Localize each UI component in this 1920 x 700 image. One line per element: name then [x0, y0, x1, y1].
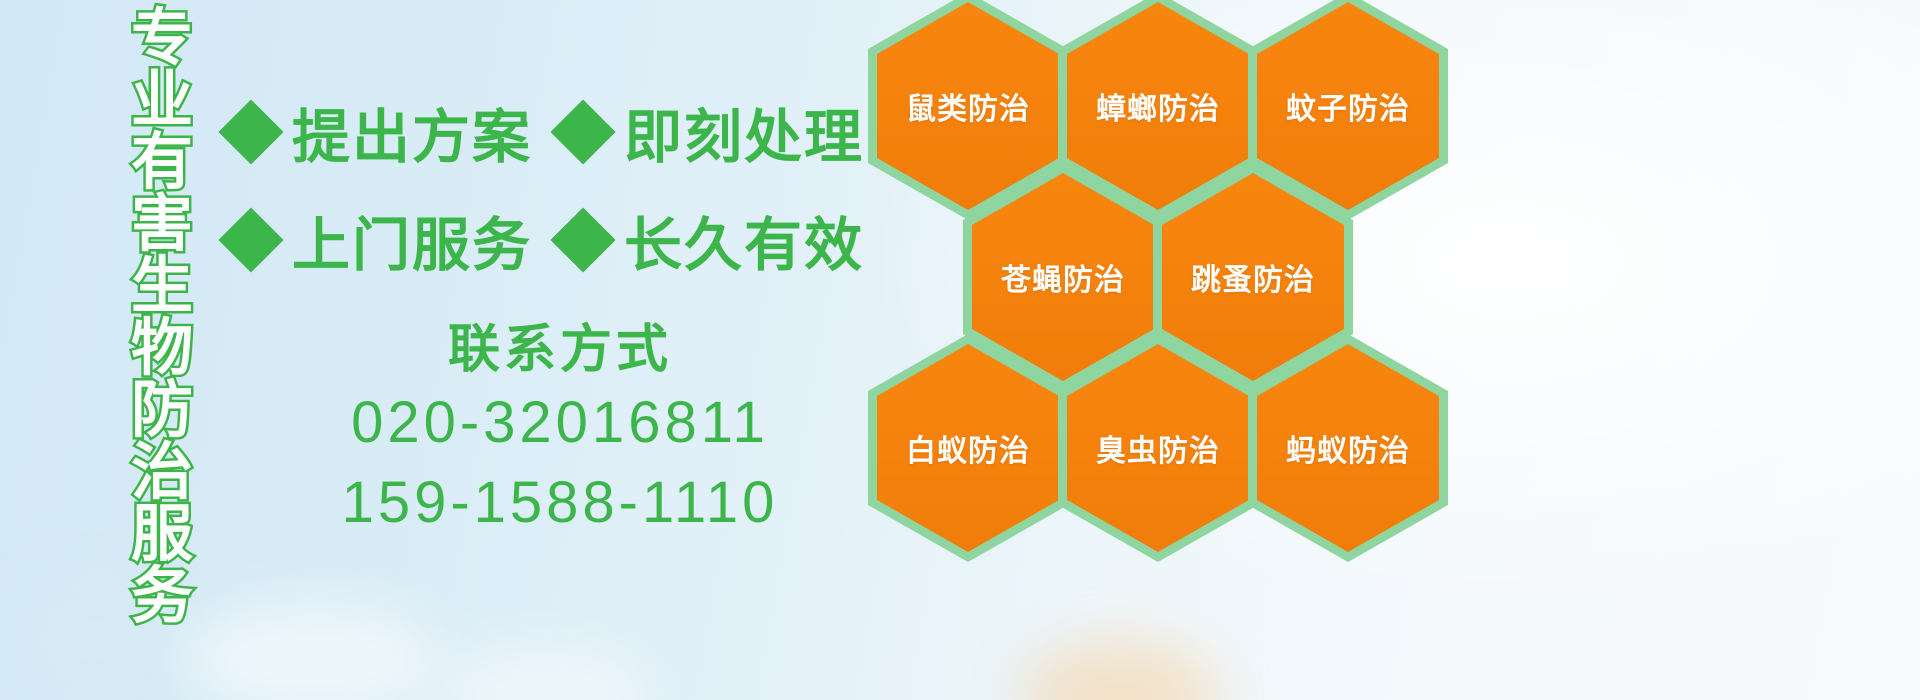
feature-label: 长久有效	[624, 198, 864, 282]
service-hex-label: 臭虫防治	[1096, 426, 1220, 470]
vertical-headline: 专 业 有 害 生 物 防 治 服 务	[108, 8, 216, 568]
feature-label: 即刻处理	[624, 90, 864, 174]
vertical-headline-char: 物	[131, 318, 193, 380]
feature-list: 提出方案 即刻处理 上门服务 长久有效	[228, 78, 858, 294]
contact-phone-mobile[interactable]: 159-1588-1110	[300, 463, 820, 543]
diamond-icon	[550, 207, 615, 272]
contact-phone-landline[interactable]: 020-32016811	[300, 383, 820, 463]
diamond-icon	[218, 99, 283, 164]
vertical-headline-char: 害	[131, 194, 193, 256]
vertical-headline-char: 专	[131, 8, 193, 70]
feature-item-long-lasting-effect: 长久有效	[560, 198, 864, 282]
service-hex-label: 白蚁防治	[906, 426, 1030, 470]
service-hex-label: 苍蝇防治	[1001, 255, 1125, 299]
diamond-icon	[550, 99, 615, 164]
vertical-headline-char: 生	[131, 256, 193, 318]
service-hex-label: 鼠类防治	[906, 84, 1030, 128]
background-blur-blob	[430, 640, 650, 700]
service-honeycomb: 鼠类防治 蟑螂防治 蚊子防治 苍蝇防治 跳蚤防治 白蚁防治 臭虫防治	[860, 0, 1500, 700]
feature-item-door-to-door-service: 上门服务	[228, 198, 532, 282]
feature-row: 提出方案 即刻处理	[228, 78, 858, 186]
feature-item-immediate-handling: 即刻处理	[560, 90, 864, 174]
contact-title: 联系方式	[300, 318, 820, 383]
vertical-headline-char: 治	[131, 442, 193, 504]
feature-item-propose-plan: 提出方案	[228, 90, 532, 174]
service-hex-label: 蟑螂防治	[1096, 84, 1220, 128]
promo-banner: 专 业 有 害 生 物 防 治 服 务 提出方案 即刻处理 上门服务	[0, 0, 1920, 700]
feature-label: 上门服务	[292, 198, 532, 282]
contact-block: 联系方式 020-32016811 159-1588-1110	[300, 318, 820, 543]
vertical-headline-char: 防	[131, 380, 193, 442]
background-blur-blob	[180, 600, 440, 700]
feature-row: 上门服务 长久有效	[228, 186, 858, 294]
service-hex-label: 跳蚤防治	[1191, 255, 1315, 299]
service-hex-label: 蚊子防治	[1286, 84, 1410, 128]
vertical-headline-char: 服	[131, 504, 193, 566]
diamond-icon	[218, 207, 283, 272]
vertical-headline-char: 有	[131, 132, 193, 194]
service-hex-label: 蚂蚁防治	[1286, 426, 1410, 470]
vertical-headline-char: 务	[131, 566, 193, 628]
feature-label: 提出方案	[292, 90, 532, 174]
vertical-headline-char: 业	[131, 70, 193, 132]
